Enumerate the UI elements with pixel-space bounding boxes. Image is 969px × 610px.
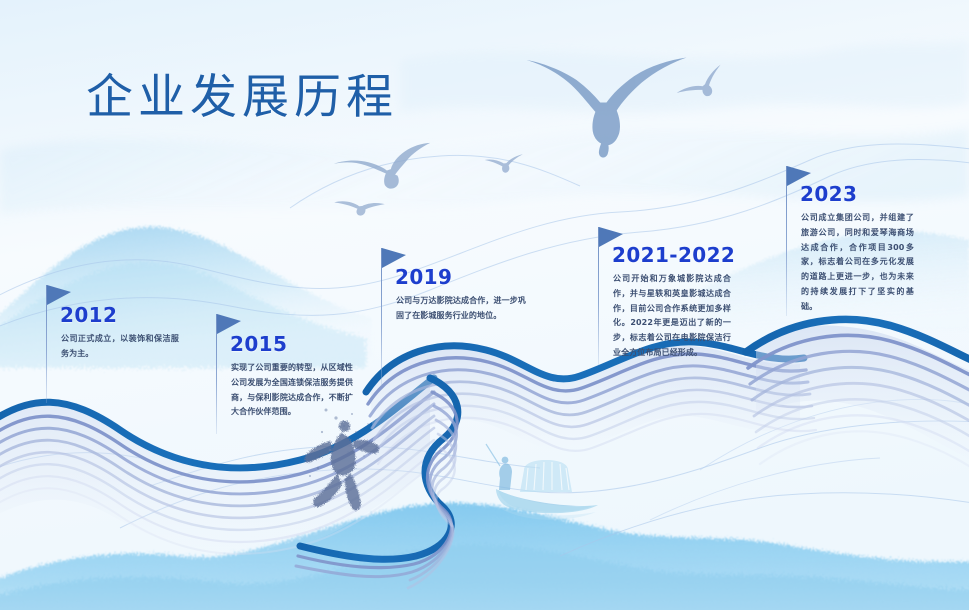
milestone-description: 公司成立集团公司，并组建了旅游公司，同时和爱琴海商场达成合作，合作项目300多家… — [801, 211, 914, 315]
milestone-year: 2023 — [800, 182, 857, 206]
milestone-description: 公司与万达影院达成合作，进一步巩固了在影城服务行业的地位。 — [396, 294, 526, 324]
flag-pole-icon — [786, 166, 787, 316]
bird-icon-small-a — [484, 154, 524, 174]
bird-icon-large — [527, 58, 687, 158]
milestone-description: 公司正式成立，以装饰和保洁服务为主。 — [61, 332, 179, 362]
flag-pole-icon — [598, 227, 599, 365]
milestone-year: 2012 — [60, 303, 117, 327]
poster-canvas: 企业发展历程 2012 公司正式成立，以装饰和保洁服务为主。 2015 实现了公… — [0, 0, 969, 610]
flag-pole-icon — [381, 248, 382, 386]
bird-icon-small-c — [675, 65, 731, 109]
milestone-description: 实现了公司重要的转型，从区域性公司发展为全国连锁保洁服务提供商，与保利影院达成合… — [231, 361, 353, 420]
runner-figure — [304, 421, 379, 511]
milestone-year: 2015 — [230, 332, 287, 356]
flag-pennant-icon — [217, 314, 241, 334]
fisherman-boat-icon — [486, 444, 598, 520]
bird-icon-small-b — [333, 199, 385, 218]
milestone-year: 2021-2022 — [612, 243, 735, 267]
milestone-year: 2019 — [395, 265, 452, 289]
bird-icon-medium — [333, 143, 436, 196]
flag-pennant-icon — [47, 285, 71, 305]
milestone-description: 公司开始和万象城影院达成合作，并与星轶和英皇影城达成合作，目前公司合作系统更加多… — [613, 272, 731, 361]
page-title: 企业发展历程 — [86, 58, 398, 127]
